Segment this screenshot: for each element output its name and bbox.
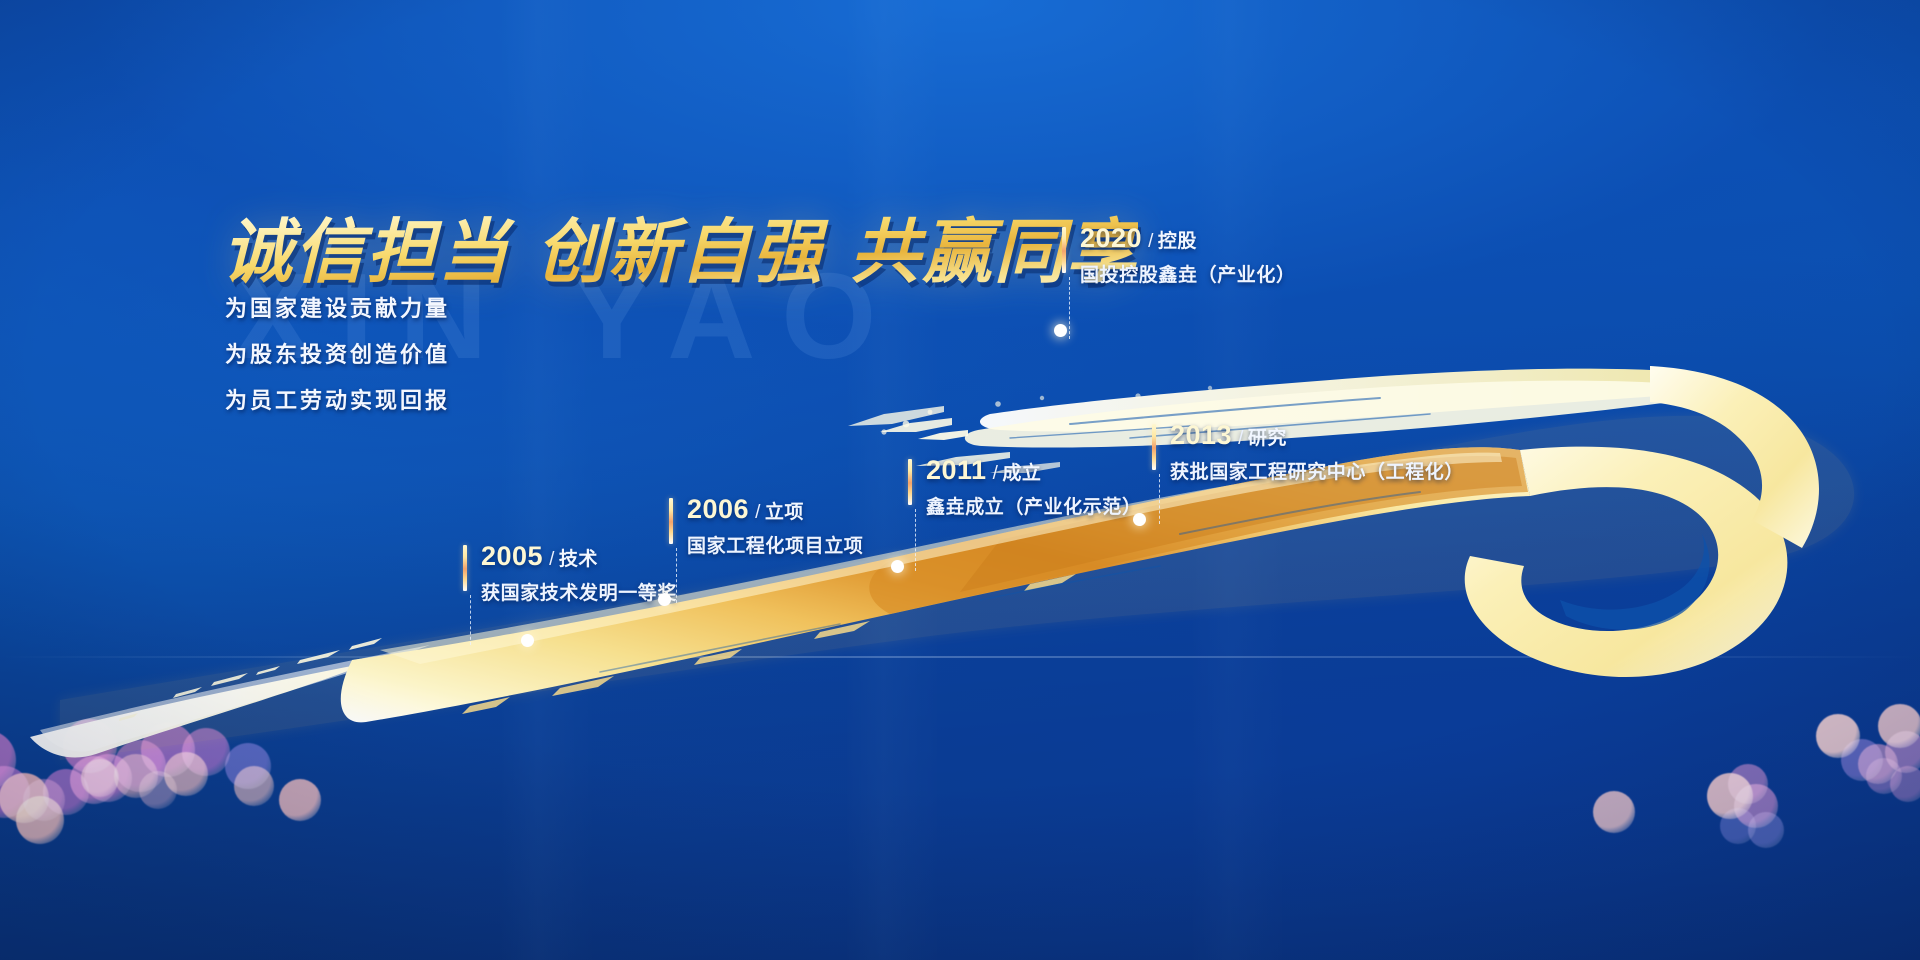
banner-stage: XIN YAO 诚信担当创新自强共赢同享 为国家建设贡献力量 为股东投资创造价值…: [0, 0, 1920, 960]
milestone-accent-bar: [1062, 227, 1066, 273]
milestone-leader-line: [915, 509, 916, 571]
milestone-dot[interactable]: [658, 593, 671, 606]
milestone-description: 鑫垚成立（产业化示范）: [926, 492, 1142, 519]
milestone-description: 获批国家工程研究中心（工程化）: [1170, 457, 1464, 484]
milestone-description: 获国家技术发明一等奖: [481, 578, 677, 605]
milestone-dot[interactable]: [1054, 324, 1067, 337]
milestone-category: 立项: [765, 502, 804, 523]
milestone-accent-bar: [1152, 424, 1156, 470]
milestone-year: 2006/立项: [687, 494, 804, 525]
milestone-dot[interactable]: [521, 634, 534, 647]
milestone-separator: /: [1238, 428, 1244, 449]
milestone-year-number: 2020: [1080, 223, 1142, 253]
milestone-leader-line: [1069, 277, 1070, 339]
milestone-separator: /: [993, 463, 999, 484]
milestone-accent-bar: [908, 459, 912, 505]
milestone-category: 控股: [1158, 231, 1197, 252]
milestone-year: 2013/研究: [1170, 420, 1287, 451]
timeline-milestones: 2005/技术获国家技术发明一等奖2006/立项国家工程化项目立项2011/成立…: [0, 0, 1920, 960]
milestone-separator: /: [755, 502, 761, 523]
milestone-year-number: 2013: [1170, 420, 1232, 450]
milestone-year-number: 2006: [687, 494, 749, 524]
milestone-leader-line: [470, 595, 471, 645]
milestone-year: 2005/技术: [481, 541, 598, 572]
milestone-accent-bar: [669, 498, 673, 544]
milestone-accent-bar: [463, 545, 467, 591]
milestone-description: 国家工程化项目立项: [687, 531, 863, 558]
milestone-description: 国投控股鑫垚（产业化）: [1080, 260, 1296, 287]
milestone-dot[interactable]: [891, 560, 904, 573]
milestone-year: 2020/控股: [1080, 223, 1197, 254]
milestone-category: 成立: [1002, 463, 1041, 484]
milestone-year-number: 2011: [926, 455, 987, 485]
milestone-year: 2011/成立: [926, 455, 1041, 486]
milestone-leader-line: [1159, 474, 1160, 524]
milestone-year-number: 2005: [481, 541, 543, 571]
milestone-separator: /: [1148, 231, 1154, 252]
milestone-category: 研究: [1248, 428, 1287, 449]
milestone-dot[interactable]: [1133, 513, 1146, 526]
milestone-separator: /: [549, 549, 555, 570]
milestone-category: 技术: [559, 549, 598, 570]
milestone-leader-line: [676, 548, 677, 603]
